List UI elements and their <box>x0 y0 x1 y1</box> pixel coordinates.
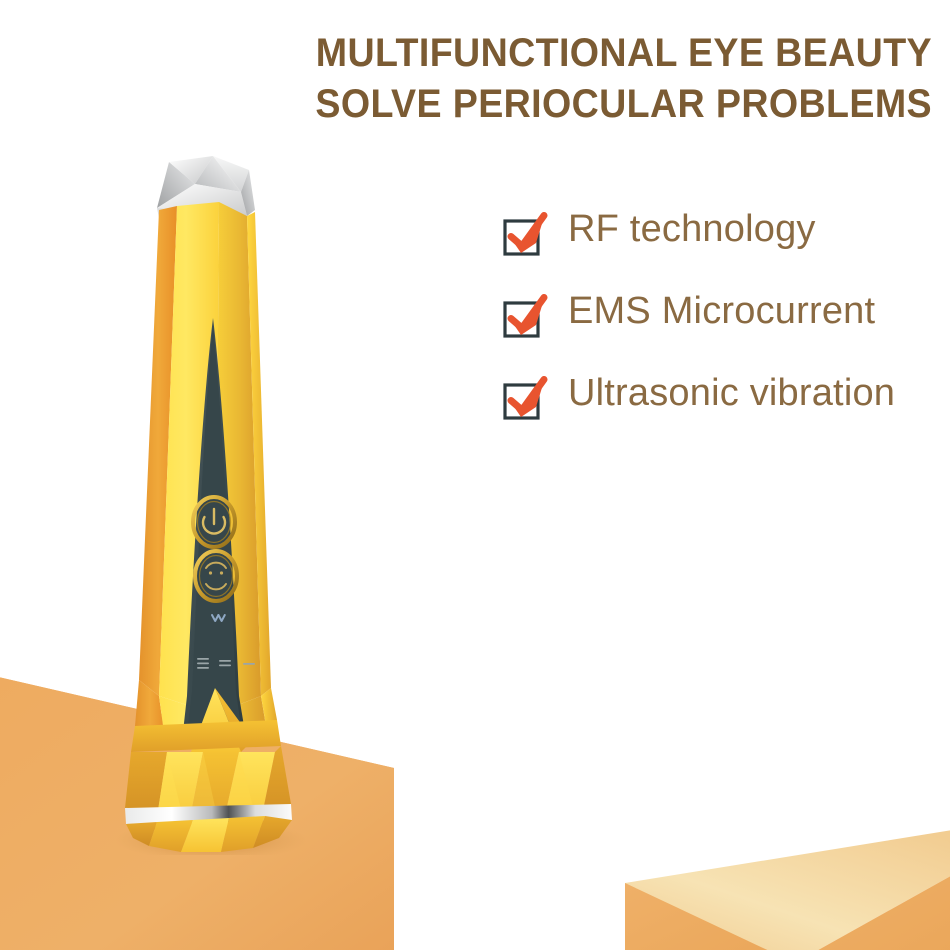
platform-block-right <box>585 828 950 950</box>
product-marketing-banner: MULTIFUNCTIONAL EYE BEAUTY SOLVE PERIOCU… <box>0 0 950 950</box>
feature-label: Ultrasonic vibration <box>568 370 895 416</box>
feature-label: EMS Microcurrent <box>568 288 875 334</box>
page-title: MULTIFUNCTIONAL EYE BEAUTY SOLVE PERIOCU… <box>120 28 932 130</box>
list-item: Ultrasonic vibration <box>503 370 950 452</box>
checkbox-checked-icon <box>503 212 549 258</box>
checkbox-checked-icon <box>503 294 549 340</box>
feature-label: RF technology <box>568 206 816 252</box>
feature-list: RF technology EMS Microcurrent Ultra <box>503 206 950 452</box>
headline-line-2: SOLVE PERIOCULAR PROBLEMS <box>169 79 932 130</box>
list-item: EMS Microcurrent <box>503 288 950 370</box>
list-item: RF technology <box>503 206 950 288</box>
headline-line-1: MULTIFUNCTIONAL EYE BEAUTY <box>169 28 932 79</box>
checkbox-checked-icon <box>503 376 549 422</box>
product-device <box>95 140 325 855</box>
